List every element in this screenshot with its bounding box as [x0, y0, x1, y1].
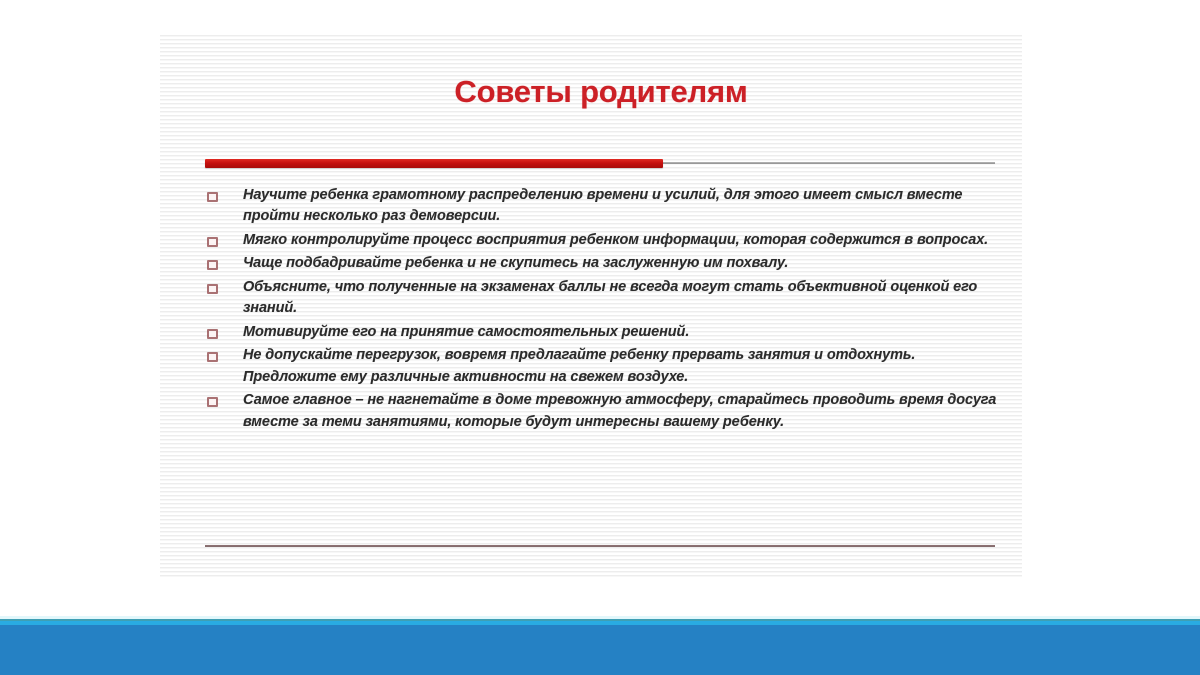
square-bullet-icon — [207, 397, 218, 407]
list-item-label: Самое главное – не нагнетайте в доме тре… — [243, 390, 1000, 433]
list-item-label: Объясните, что полученные на экзаменах б… — [243, 277, 1000, 320]
slide-page: Советы родителям Научите ребенка грамотн… — [0, 0, 1200, 675]
list-item-label: Мотивируйте его на принятие самостоятель… — [243, 322, 1000, 343]
title-underline-rule — [205, 159, 995, 168]
page-title: Советы родителям — [206, 75, 996, 109]
square-bullet-icon — [207, 352, 218, 362]
list-item: Чаще подбадривайте ребенка и не скупитес… — [205, 253, 1000, 274]
footer-band — [0, 622, 1200, 675]
square-bullet-icon — [207, 260, 218, 270]
list-item-label: Чаще подбадривайте ребенка и не скупитес… — [243, 253, 1000, 274]
list-item-label: Не допускайте перегрузок, вовремя предла… — [243, 345, 1000, 388]
square-bullet-icon — [207, 237, 218, 247]
list-item: Самое главное – не нагнетайте в доме тре… — [205, 390, 1000, 433]
square-bullet-icon — [207, 192, 218, 202]
list-item: Научите ребенка грамотному распределению… — [205, 185, 1000, 228]
slide-canvas: Советы родителям Научите ребенка грамотн… — [160, 33, 1022, 578]
footer-hairline-cyan — [0, 621, 1200, 625]
list-item-label: Научите ребенка грамотному распределению… — [243, 185, 1000, 228]
footer-divider-rule — [205, 545, 995, 547]
list-item: Не допускайте перегрузок, вовремя предла… — [205, 345, 1000, 388]
list-item: Мотивируйте его на принятие самостоятель… — [205, 322, 1000, 343]
advice-bullet-list: Научите ребенка грамотному распределению… — [205, 185, 1000, 435]
square-bullet-icon — [207, 284, 218, 294]
square-bullet-icon — [207, 329, 218, 339]
list-item-label: Мягко контролируйте процесс восприятия р… — [243, 230, 1000, 251]
title-rule-accent-segment — [205, 159, 663, 168]
list-item: Объясните, что полученные на экзаменах б… — [205, 277, 1000, 320]
list-item: Мягко контролируйте процесс восприятия р… — [205, 230, 1000, 251]
